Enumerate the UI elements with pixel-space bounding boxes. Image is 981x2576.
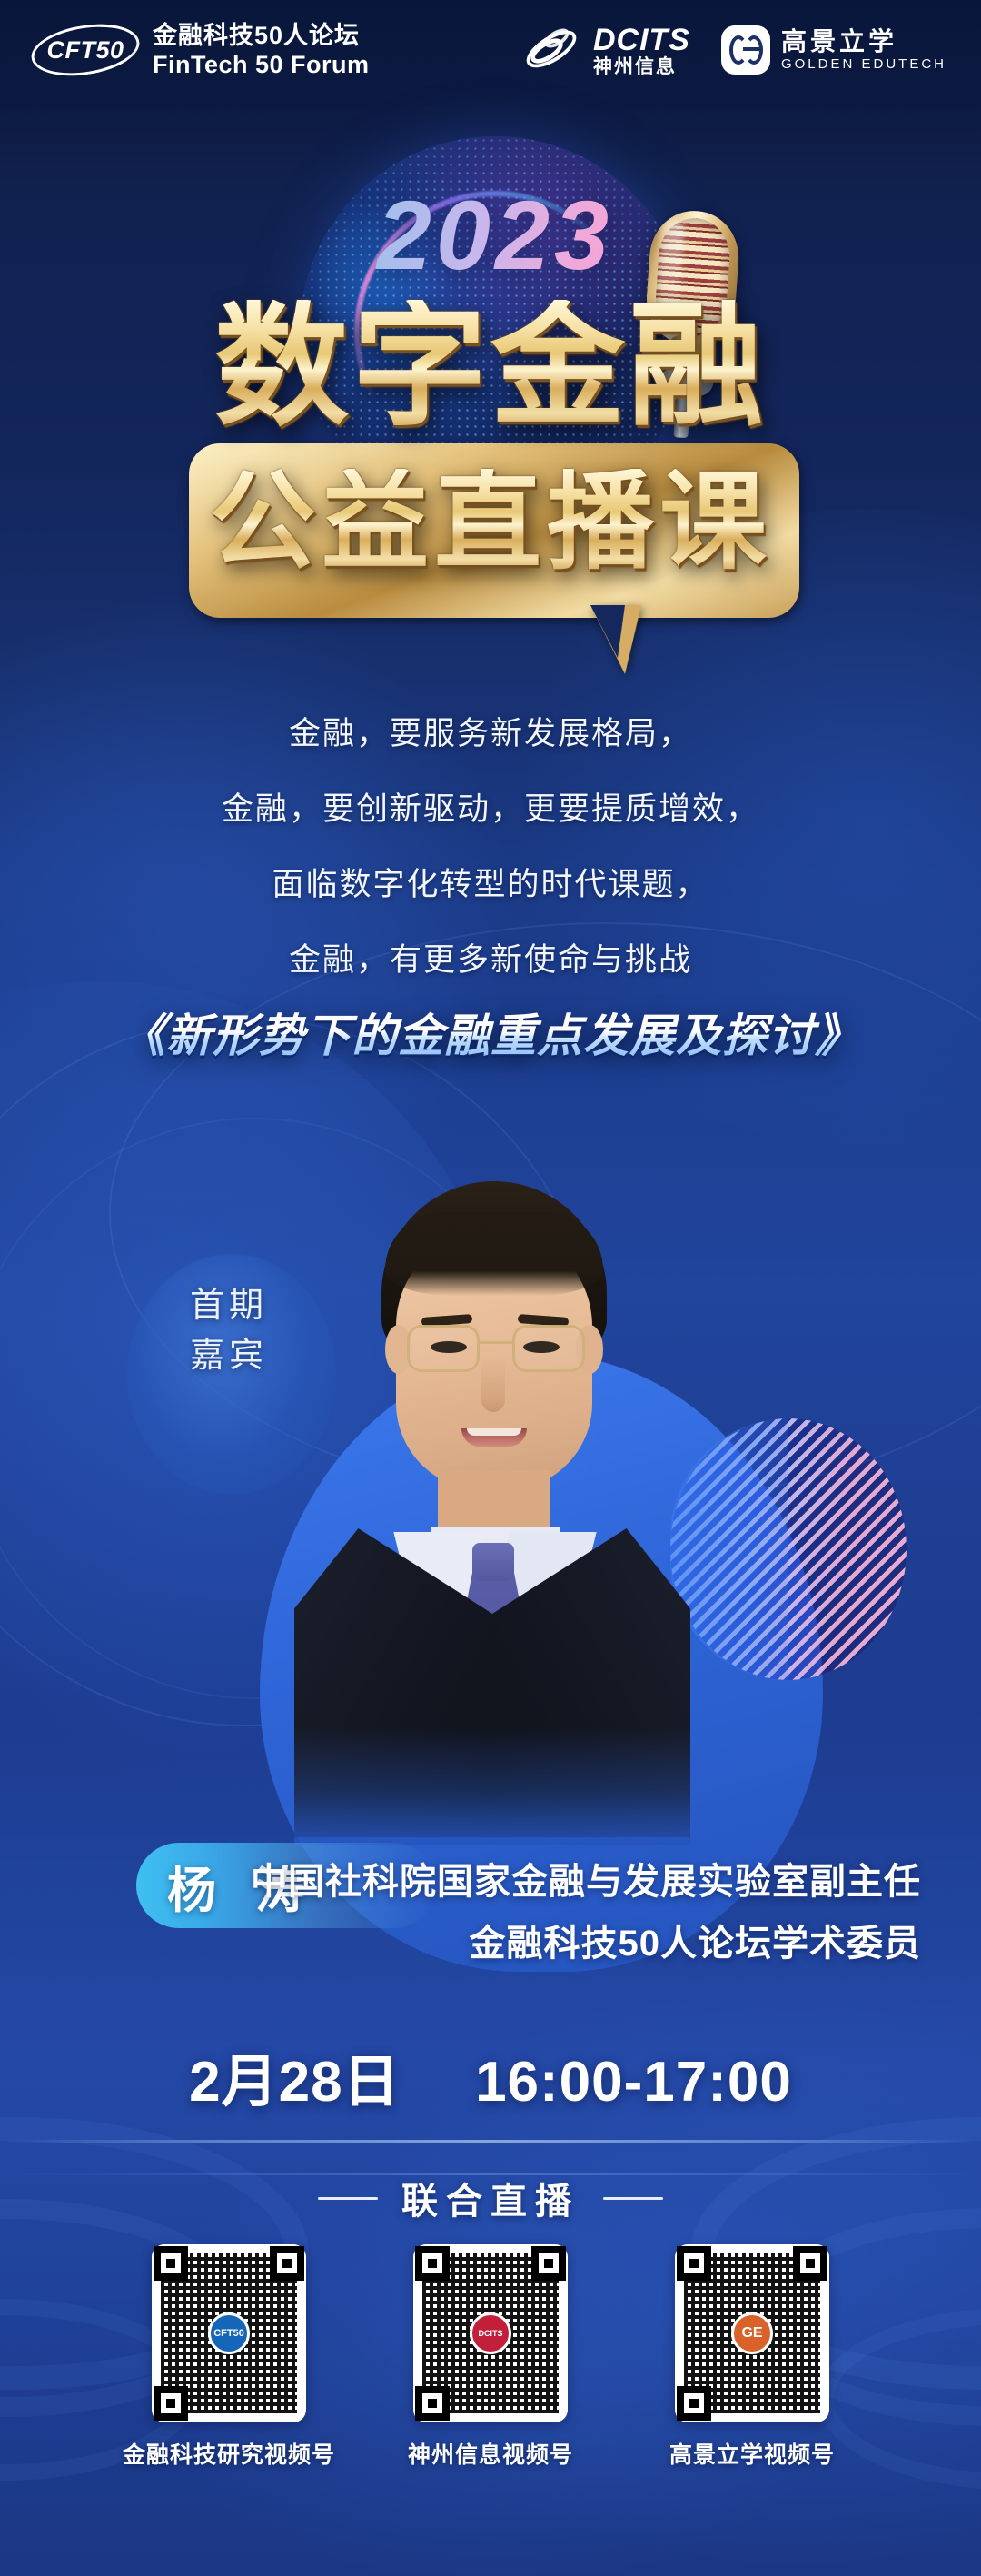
guest-section: 首期 嘉宾 (0, 1086, 981, 1840)
title-speech-bubble-tail-inner (590, 605, 625, 658)
golden-edutech-logo: 高景立学 GOLDEN EDUTECH (721, 25, 946, 75)
qr-channel-label: 金融科技研究视频号 (123, 2437, 335, 2470)
slogan-line: 金融，有更多新使命与挑战 (0, 944, 981, 976)
speaker-info-row: 杨 涛 中国社科院国家金融与发展实验室副主任 金融科技50人论坛学术委员 (0, 1835, 981, 1999)
slogan-block: 金融，要服务新发展格局， 金融，要创新驱动，更要提质增效， 面临数字化转型的时代… (0, 718, 981, 976)
year-heading: 2023 (300, 178, 690, 292)
qr-finder-icon (677, 2246, 711, 2281)
qr-finder-icon (270, 2246, 304, 2281)
divider-dash-right (603, 2197, 663, 2200)
qr-channel-item[interactable]: GE 高景立学视频号 (666, 2244, 838, 2470)
qr-code-row: CFT50 金融科技研究视频号 DCITS 神州信息视频号 GE 高景立学视频号 (0, 2244, 981, 2470)
schedule-line: 2月28日 16:00-17:00 (0, 2035, 981, 2117)
guest-badge-line2: 嘉宾 (138, 1331, 320, 1381)
broadcast-section-header: 联合直播 (0, 2172, 981, 2224)
dcits-logo: DCITS 神州信息 (521, 24, 690, 76)
cft50-mark-label: CFT50 (31, 22, 140, 78)
hero-title-line1: 数字金融 (82, 300, 899, 434)
dcits-swirl-icon (521, 24, 581, 76)
dcits-cn-name: 神州信息 (593, 57, 690, 76)
schedule-time: 16:00-17:00 (475, 2051, 792, 2114)
divider-dash-left (318, 2197, 378, 2200)
qr-center-logo-icon: DCITS (470, 2312, 511, 2354)
golden-edutech-logo-text: 高景立学 GOLDEN EDUTECH (781, 29, 946, 71)
qr-finder-icon (415, 2386, 450, 2421)
speaker-title-line1: 中国社科院国家金融与发展实验室副主任 (251, 1852, 921, 1905)
golden-edutech-en-name: GOLDEN EDUTECH (781, 57, 946, 71)
qr-finder-icon (154, 2386, 188, 2421)
qr-finder-icon (677, 2386, 711, 2421)
hero-title: 数字金融 公益直播课 (82, 300, 899, 654)
qr-channel-item[interactable]: DCITS 神州信息视频号 (404, 2244, 577, 2470)
lecture-subject-title: 《新形势下的金融重点发展及探讨》 (0, 1000, 981, 1065)
golden-edutech-cn-name: 高景立学 (781, 29, 946, 55)
cft50-en-name: FinTech 50 Forum (153, 52, 370, 77)
cft50-cn-name: 金融科技50人论坛 (153, 23, 370, 48)
slogan-line: 面临数字化转型的时代课题， (0, 869, 981, 900)
golden-edutech-ge-icon (721, 25, 770, 75)
partner-logos: DCITS 神州信息 高景立学 GOLDEN EDUTECH (521, 24, 946, 76)
speaker-portrait (294, 1181, 690, 1837)
broadcast-section-title: 联合直播 (401, 2172, 580, 2224)
qr-center-logo-icon: CFT50 (208, 2312, 250, 2354)
poster-header: CFT50 金融科技50人论坛 FinTech 50 Forum DCITS 神… (0, 0, 981, 114)
dcits-logo-text: DCITS 神州信息 (593, 25, 690, 76)
cft50-logo: CFT50 金融科技50人论坛 FinTech 50 Forum (31, 22, 370, 78)
qr-finder-icon (415, 2246, 450, 2281)
qr-channel-label: 高景立学视频号 (669, 2437, 835, 2470)
schedule-date: 2月28日 (189, 2051, 400, 2114)
qr-code-card[interactable]: GE (675, 2244, 829, 2422)
qr-finder-icon (531, 2246, 566, 2281)
qr-channel-item[interactable]: CFT50 金融科技研究视频号 (143, 2244, 315, 2470)
cft50-logo-text: 金融科技50人论坛 FinTech 50 Forum (153, 23, 370, 77)
dcits-en-name: DCITS (593, 25, 690, 55)
slogan-line: 金融，要服务新发展格局， (0, 718, 981, 750)
qr-code-card[interactable]: DCITS (413, 2244, 568, 2422)
hero-title-line2: 公益直播课 (82, 469, 899, 576)
qr-finder-icon (154, 2246, 188, 2281)
speaker-title-line2: 金融科技50人论坛学术委员 (470, 1914, 922, 1966)
guest-badge-line1: 首期 (138, 1281, 320, 1331)
slogan-line: 金融，要创新驱动，更要提质增效， (0, 793, 981, 825)
qr-channel-label: 神州信息视频号 (408, 2437, 573, 2470)
qr-finder-icon (793, 2246, 827, 2281)
cft50-mark-icon: CFT50 (31, 22, 140, 78)
qr-center-logo-icon: GE (731, 2312, 773, 2354)
qr-code-card[interactable]: CFT50 (152, 2244, 306, 2422)
guest-badge-label: 首期 嘉宾 (138, 1281, 320, 1381)
